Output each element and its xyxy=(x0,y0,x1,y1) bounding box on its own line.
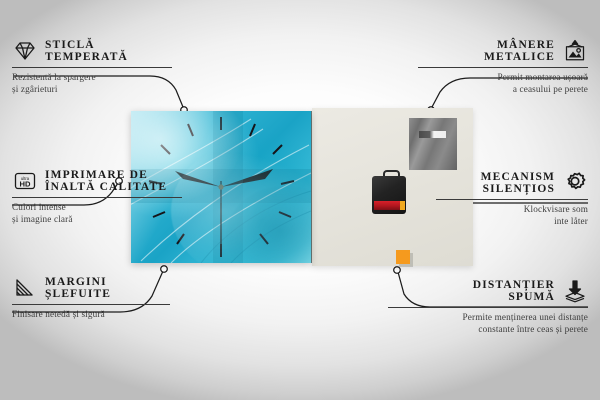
connector-dot-polished-edges xyxy=(161,266,168,273)
connector-dot-foam-spacer xyxy=(394,267,401,274)
feature-tempered-glass: STICLĂ TEMPERATĂ Rezistentă la spargere … xyxy=(12,38,172,95)
svg-text:HD: HD xyxy=(20,180,31,189)
feature-title-line2: ÎNALTĂ CALITATE xyxy=(45,181,167,193)
feature-title: STICLĂ TEMPERATĂ xyxy=(45,39,128,64)
gear-icon xyxy=(562,170,588,196)
feature-title: MÂNERE METALICE xyxy=(484,39,555,64)
feature-polished-edges: MARGINI ȘLEFUITE Finisare netedă și sigu… xyxy=(12,275,170,320)
feature-title-line1: MARGINI xyxy=(45,276,107,288)
feature-foam-spacer: DISTANȚIER SPUMĂ Permite menținerea unei… xyxy=(388,278,588,335)
feature-title-line1: MECANISM xyxy=(481,171,555,183)
feature-metal-hangers: MÂNERE METALICE Permit montarea ușoară a… xyxy=(418,38,588,95)
feature-divider xyxy=(388,307,588,308)
battery-terminal xyxy=(400,201,405,210)
feature-title-line1: DISTANȚIER xyxy=(473,279,555,291)
feature-description: Permit montarea ușoară a ceasului pe per… xyxy=(418,71,588,95)
feature-description: Klockvisare som inte låter xyxy=(436,203,588,227)
feature-title-line2: METALICE xyxy=(484,51,555,63)
feature-title-line2: SPUMĂ xyxy=(508,291,555,303)
beveled-edge-icon xyxy=(12,275,38,301)
feature-silent-mechanism: MECANISM SILENȚIOS Klockvisare som inte … xyxy=(436,170,588,227)
feature-title-line1: IMPRIMARE DE xyxy=(45,169,148,181)
feature-title: DISTANȚIER SPUMĂ xyxy=(473,279,555,304)
feature-title: IMPRIMARE DE ÎNALTĂ CALITATE xyxy=(45,169,167,194)
infographic-canvas: STICLĂ TEMPERATĂ Rezistentă la spargere … xyxy=(0,0,600,400)
arrow-into-pad-icon xyxy=(562,278,588,304)
feature-title-line1: STICLĂ xyxy=(45,39,95,51)
feature-divider xyxy=(436,199,588,200)
hanger-slot xyxy=(419,131,446,138)
feature-high-quality-print: ultra HD IMPRIMARE DE ÎNALTĂ CALITATE Cu… xyxy=(12,168,182,225)
feature-title-line2: SILENȚIOS xyxy=(483,183,555,195)
feature-divider xyxy=(12,304,170,305)
feature-title-line2: ȘLEFUITE xyxy=(45,288,111,300)
feature-title: MECANISM SILENȚIOS xyxy=(481,171,555,196)
ultra-hd-icon: ultra HD xyxy=(12,168,38,194)
feature-divider xyxy=(12,197,182,198)
feature-description: Permite menținerea unei distanțe constan… xyxy=(388,311,588,335)
feature-description: Culori intense și imagine clară xyxy=(12,201,182,225)
foam-spacer-pad xyxy=(396,250,410,264)
feature-title-line2: TEMPERATĂ xyxy=(45,51,128,63)
feature-description: Rezistentă la spargere și zgârieturi xyxy=(12,71,172,95)
feature-divider xyxy=(12,67,172,68)
feature-divider xyxy=(418,67,588,68)
feature-title: MARGINI ȘLEFUITE xyxy=(45,276,111,301)
feature-description: Finisare netedă și sigură xyxy=(12,308,170,320)
picture-hanger-icon xyxy=(562,38,588,64)
diamond-icon xyxy=(12,38,38,64)
metal-hanger-plate xyxy=(409,118,457,170)
feature-title-line1: MÂNERE xyxy=(497,39,555,51)
